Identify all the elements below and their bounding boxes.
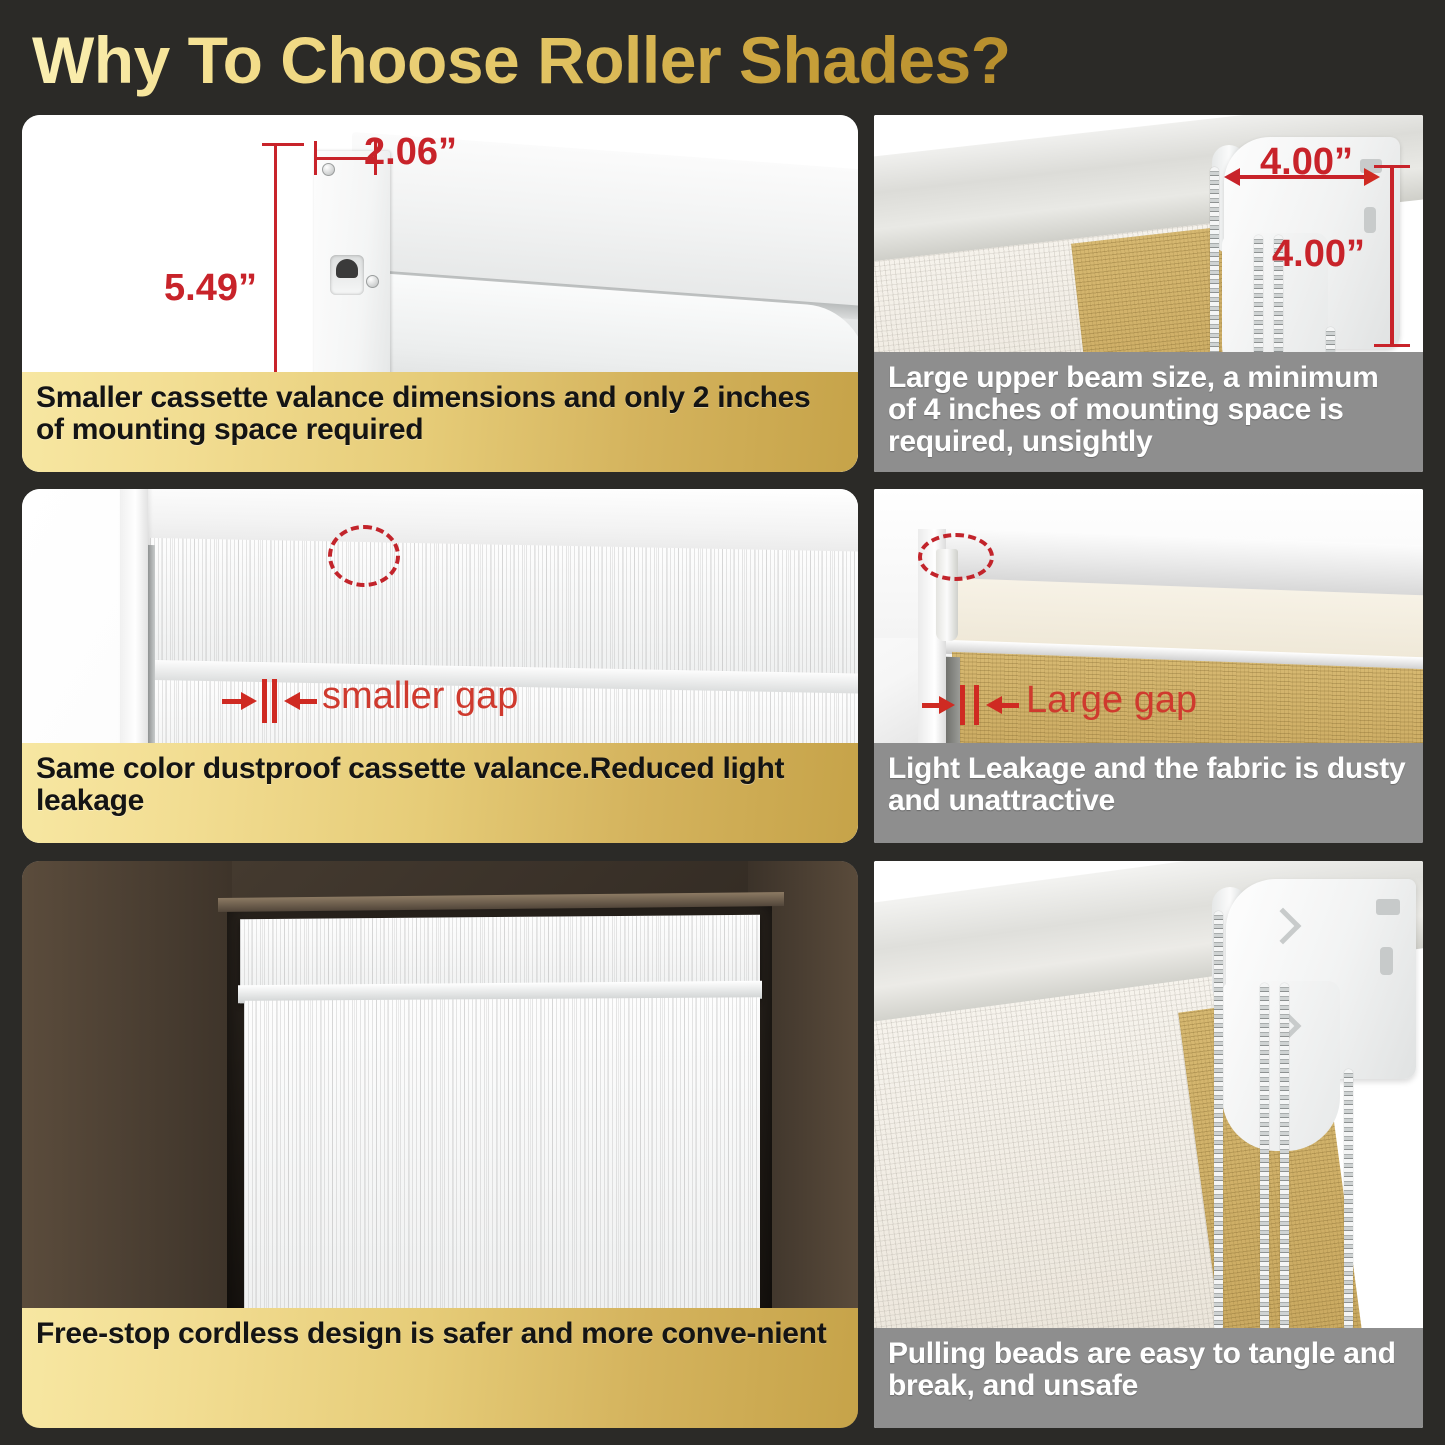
bracket-slot-icon: [1364, 207, 1376, 233]
page-title: Why To Choose Roller Shades?: [32, 22, 1011, 98]
gap-callout-label: Large gap: [1026, 679, 1197, 722]
dimension-height-label: 5.49”: [164, 267, 257, 310]
shade-fabric: [244, 997, 760, 1331]
screw-icon: [322, 163, 335, 176]
bracket-slot-icon: [1380, 947, 1393, 975]
panel-pulling-beads: Pulling beads are easy to tangle and bre…: [874, 861, 1423, 1428]
dimension-height-label: 4.00”: [1272, 233, 1365, 276]
caption-cassette-dimensions: Smaller cassette valance dimensions and …: [22, 372, 858, 472]
panel-free-stop-cordless: Free-stop cordless design is safer and m…: [22, 861, 858, 1428]
dimension-width-label: 2.06”: [364, 131, 457, 174]
dim-line-height: [1390, 165, 1394, 347]
caption-large-upper-beam: Large upper beam size, a minimum of 4 in…: [874, 352, 1423, 472]
caption-smaller-gap: Same color dustproof cassette valance.Re…: [22, 743, 858, 843]
dim-tick: [1374, 344, 1410, 347]
panel-smaller-gap: smaller gap Same color dustproof cassett…: [22, 489, 858, 843]
panel-large-upper-beam: 4.00” 4.00” Large upper beam size, a min…: [874, 115, 1423, 472]
caption-large-gap: Light Leakage and the fabric is dusty an…: [874, 743, 1423, 843]
panel-cassette-dimensions: 2.06” 5.49” Smaller cassette valance dim…: [22, 115, 858, 472]
screw-icon: [366, 275, 379, 288]
highlight-ellipse: [328, 525, 400, 587]
highlight-ellipse: [918, 533, 994, 581]
title-bar: Why To Choose Roller Shades?: [0, 0, 1445, 110]
dimension-width-label: 4.00”: [1260, 141, 1353, 184]
caption-free-stop-cordless: Free-stop cordless design is safer and m…: [22, 1308, 858, 1428]
bead-chain: [1260, 983, 1269, 1331]
bead-chain: [1280, 983, 1289, 1331]
panel-large-gap: Large gap Light Leakage and the fabric i…: [874, 489, 1423, 843]
cassette-valance: [150, 538, 858, 682]
bead-chain: [1344, 1069, 1353, 1331]
gap-callout-label: smaller gap: [322, 675, 518, 718]
dim-tick: [1374, 165, 1410, 168]
bracket-slot-icon: [1376, 899, 1400, 915]
dim-tick: [262, 143, 304, 146]
caption-pulling-beads: Pulling beads are easy to tangle and bre…: [874, 1328, 1423, 1428]
bead-chain: [1214, 911, 1223, 1331]
bracket-clip: [330, 255, 364, 295]
